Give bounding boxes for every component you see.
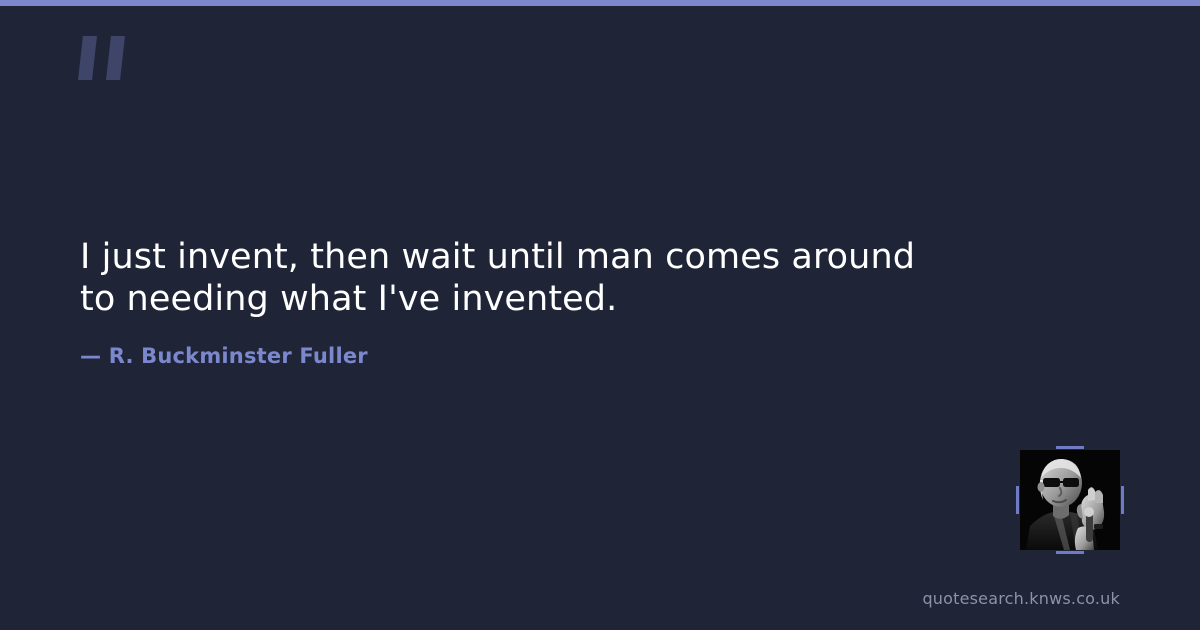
quote-text: I just invent, then wait until man comes… (80, 236, 980, 320)
quote-card: I just invent, then wait until man comes… (0, 0, 1200, 630)
top-accent-bar (0, 0, 1200, 6)
quote-mark-stroke-left (78, 36, 97, 80)
portrait-tick-bottom (1056, 551, 1084, 554)
quote-mark-stroke-right (106, 36, 125, 80)
portrait-tick-top (1056, 446, 1084, 449)
site-url: quotesearch.knws.co.uk (922, 589, 1120, 608)
portrait-tick-right (1121, 486, 1124, 514)
portrait-tick-left (1016, 486, 1019, 514)
author-portrait (1020, 450, 1120, 550)
author-portrait-photo (1020, 450, 1120, 550)
portrait-illustration (1020, 450, 1120, 550)
open-quote-icon (78, 30, 142, 88)
quote-attribution: — R. Buckminster Fuller (80, 344, 368, 368)
